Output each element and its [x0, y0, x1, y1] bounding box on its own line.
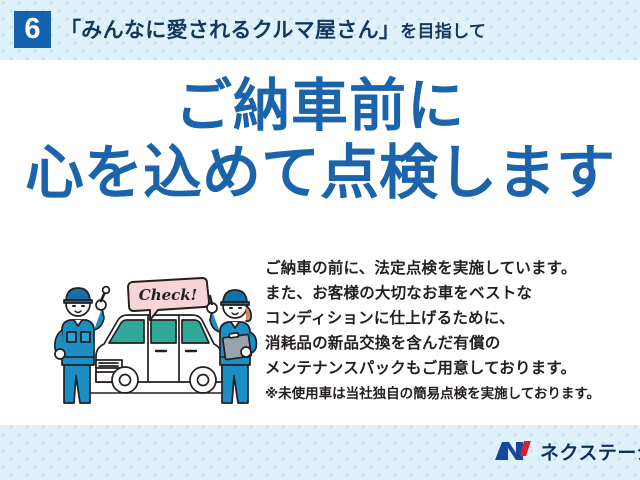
header-bar: 6 「みんなに愛されるクルマ屋さん」を目指して: [0, 0, 640, 59]
advertisement-page: 6 「みんなに愛されるクルマ屋さん」を目指して ご納車前に 心を込めて点検します…: [0, 0, 640, 480]
page-title: ご納車前に 心を込めて点検します: [0, 73, 640, 207]
header-title-suffix: を目指して: [400, 22, 486, 41]
content-panel: ご納車前に 心を込めて点検します ご納車の前に、法定点検を実施しています。 また…: [0, 60, 640, 425]
body-copy: ご納車の前に、法定点検を実施しています。 また、お客様の大切なお車をベストな コ…: [265, 256, 625, 406]
brand-name: ネクステージ: [540, 438, 640, 465]
speech-bubble-label: Check!: [139, 286, 198, 304]
mechanics-illustration: Check!: [52, 264, 267, 409]
body-line-3: コンディションに仕上げるために、: [265, 306, 625, 331]
body-line-1: ご納車の前に、法定点検を実施しています。: [265, 256, 625, 281]
van-group: [88, 315, 230, 393]
section-number-badge: 6: [14, 11, 51, 48]
nextage-n-logo-icon: [493, 438, 533, 464]
header-title: 「みんなに愛されるクルマ屋さん」を目指して: [60, 14, 486, 44]
brand-logo: ネクステージ: [493, 436, 640, 466]
body-note: ※未使用車は当社独自の簡易点検を実施しております。: [265, 381, 625, 406]
illustration-svg: Check!: [52, 264, 267, 409]
body-line-5: メンテナンスパックもご用意しております。: [265, 356, 625, 381]
headline-line-1: ご納車前に: [175, 74, 465, 138]
body-line-2: また、お客様の大切なお車をベストな: [265, 281, 625, 306]
header-title-quoted: 「みんなに愛されるクルマ屋さん」: [60, 19, 400, 42]
body-line-4: 消耗品の新品交換を含んだ有償の: [265, 331, 625, 356]
headline-line-2: 心を込めて点検します: [0, 140, 640, 207]
